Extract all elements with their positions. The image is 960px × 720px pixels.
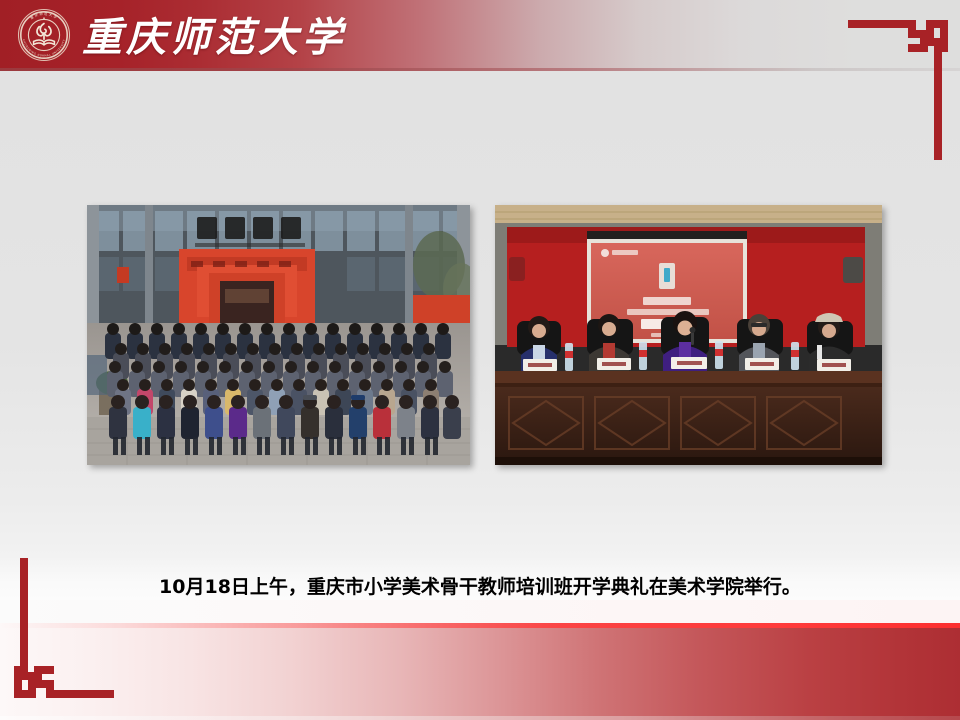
header-underline-divider — [0, 68, 960, 71]
university-seal-icon: 重庆师范大学 CHONGQING NORMAL UNIVERSITY — [17, 8, 71, 62]
university-name-title: 重庆师范大学 — [82, 4, 346, 64]
opening-ceremony-panel-photo — [495, 205, 882, 465]
bottom-left-corner-ornament-icon — [10, 555, 114, 710]
top-right-corner-ornament-icon — [848, 8, 952, 163]
slide-header-banner: 重庆师范大学 CHONGQING NORMAL UNIVERSITY 重庆师范大… — [0, 0, 960, 68]
footer-highlight-line — [0, 623, 960, 628]
footer-gradient-band — [0, 623, 960, 720]
group-photo-fine-arts-college — [87, 205, 470, 465]
footer-upper-fade — [0, 600, 960, 623]
presentation-slide: 重庆师范大学 CHONGQING NORMAL UNIVERSITY 重庆师范大… — [0, 0, 960, 720]
footer-bottom-edge — [0, 716, 960, 720]
slide-caption-text: 10月18日上午，重庆市小学美术骨干教师培训班开学典礼在美术学院举行。 — [0, 572, 960, 599]
